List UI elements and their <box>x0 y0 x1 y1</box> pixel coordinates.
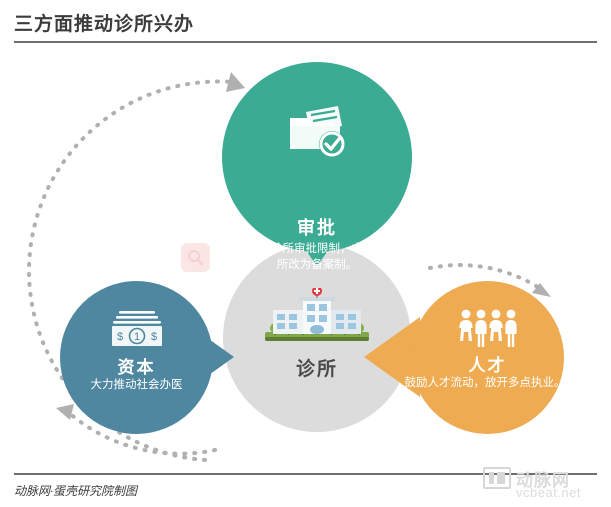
node-desc-approval: 放开诊所审批限制，中医诊所改为备案制。 <box>222 242 412 273</box>
node-title-talent: 人才 <box>411 351 564 376</box>
folder-check-icon <box>288 102 346 160</box>
footer-credit: 动脉网·蛋壳研究院制图 <box>14 482 137 499</box>
brand-logo-icon <box>483 467 511 489</box>
hospital-building-icon <box>263 288 371 346</box>
svg-text:$: $ <box>117 331 123 343</box>
header-divider <box>14 41 597 43</box>
search-icon <box>181 243 210 272</box>
header: 三方面推动诊所兴办 <box>0 0 611 46</box>
brand-watermark: 动脉网 vcbeat.net <box>483 466 603 502</box>
svg-text:$: $ <box>151 331 157 343</box>
node-desc-capital: 大力推动社会办医 <box>60 378 213 394</box>
node-talent[interactable]: 人才 鼓励人才流动，放开多点执业。 <box>364 281 564 434</box>
node-capital[interactable]: $ $ 1 资本 大力推动社会办医 <box>60 281 260 434</box>
svg-text:1: 1 <box>134 331 140 343</box>
people-group-icon <box>458 309 518 347</box>
page-title: 三方面推动诊所兴办 <box>14 9 194 36</box>
infographic-canvas: 三方面推动诊所兴办 <box>0 0 611 507</box>
brand-name-en: vcbeat.net <box>516 485 581 500</box>
node-approval[interactable]: 审批 放开诊所审批限制，中医诊所改为备案制。 <box>222 62 412 262</box>
node-desc-talent: 鼓励人才流动，放开多点执业。 <box>394 376 576 392</box>
banknote-icon: $ $ 1 <box>110 309 164 349</box>
node-title-capital: 资本 <box>60 353 213 378</box>
node-title-approval: 审批 <box>222 214 412 240</box>
